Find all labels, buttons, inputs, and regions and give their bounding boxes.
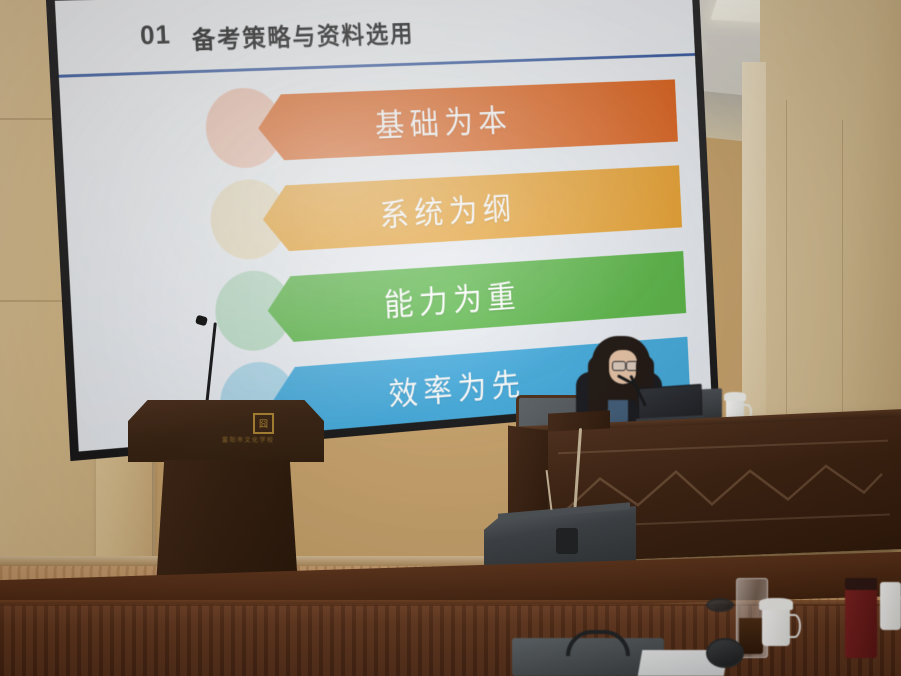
foreground-teacup xyxy=(762,606,790,646)
lens-cap-secondary xyxy=(706,598,734,612)
wall-right xyxy=(760,0,901,470)
foreground-teacup-lid xyxy=(759,598,793,610)
presenter-glasses xyxy=(612,361,626,371)
podium-plate-text: 富阳市文化学校 xyxy=(222,435,275,444)
slide-section-number: 01 xyxy=(139,20,171,51)
slide-item-label: 能力为重 xyxy=(383,271,522,326)
slide-item-label: 基础为本 xyxy=(374,95,513,146)
podium-top xyxy=(128,400,324,462)
speaker-handle xyxy=(556,528,578,554)
foreground-white-mug xyxy=(880,582,901,630)
slide-item-label: 效率为先 xyxy=(387,359,526,415)
lens-cap xyxy=(706,638,744,668)
desk-left-return xyxy=(508,426,548,523)
slide-item-bar: 能力为重 xyxy=(266,251,686,344)
slide-item-bar: 系统为纲 xyxy=(261,165,682,252)
presenter-hair-strand xyxy=(588,356,608,418)
thermos-cap xyxy=(845,578,877,590)
red-thermos xyxy=(845,584,877,658)
lecture-hall-photo: 01 备考策略与资料选用 基础为本 系统为纲 xyxy=(0,0,901,676)
slide-item-bar: 基础为本 xyxy=(257,79,678,161)
slide-item-row: 基础为本 xyxy=(204,70,698,172)
teacup-lid xyxy=(724,392,746,401)
slide-item-label: 系统为纲 xyxy=(378,183,517,236)
podium-emblem-icon: 囧 xyxy=(253,413,274,434)
foreground-teacup-handle xyxy=(788,614,801,638)
slide-title: 备考策略与资料选用 xyxy=(191,15,415,56)
